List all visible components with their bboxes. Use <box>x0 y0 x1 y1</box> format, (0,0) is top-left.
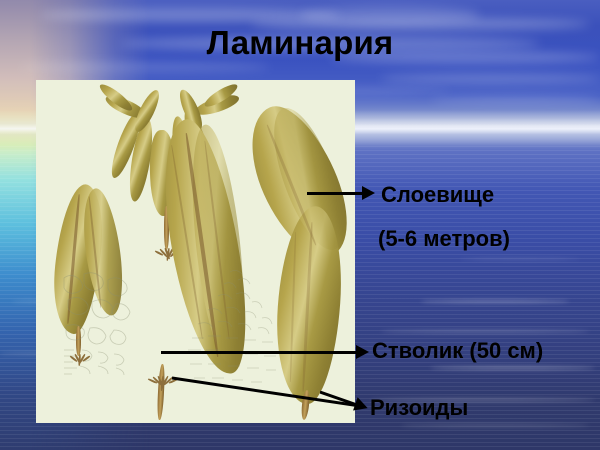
label-thallus: Слоевище <box>381 182 494 208</box>
sketch-detail-left <box>58 270 148 380</box>
page-title: Ламинария <box>0 24 600 62</box>
slide: Ламинария <box>0 0 600 450</box>
arrow-thallus-head <box>362 186 375 200</box>
label-rhizoids: Ризоиды <box>370 395 468 421</box>
arrow-stipe-shaft-inpanel <box>161 351 355 354</box>
sketch-svg-left <box>58 270 148 380</box>
label-thallus-size: (5-6 метров) <box>378 226 510 252</box>
illustration-panel <box>36 80 355 423</box>
arrow-thallus-shaft <box>307 192 363 195</box>
label-stipe: Стволик (50 см) <box>372 338 543 364</box>
arrow-stipe-head <box>356 345 369 359</box>
